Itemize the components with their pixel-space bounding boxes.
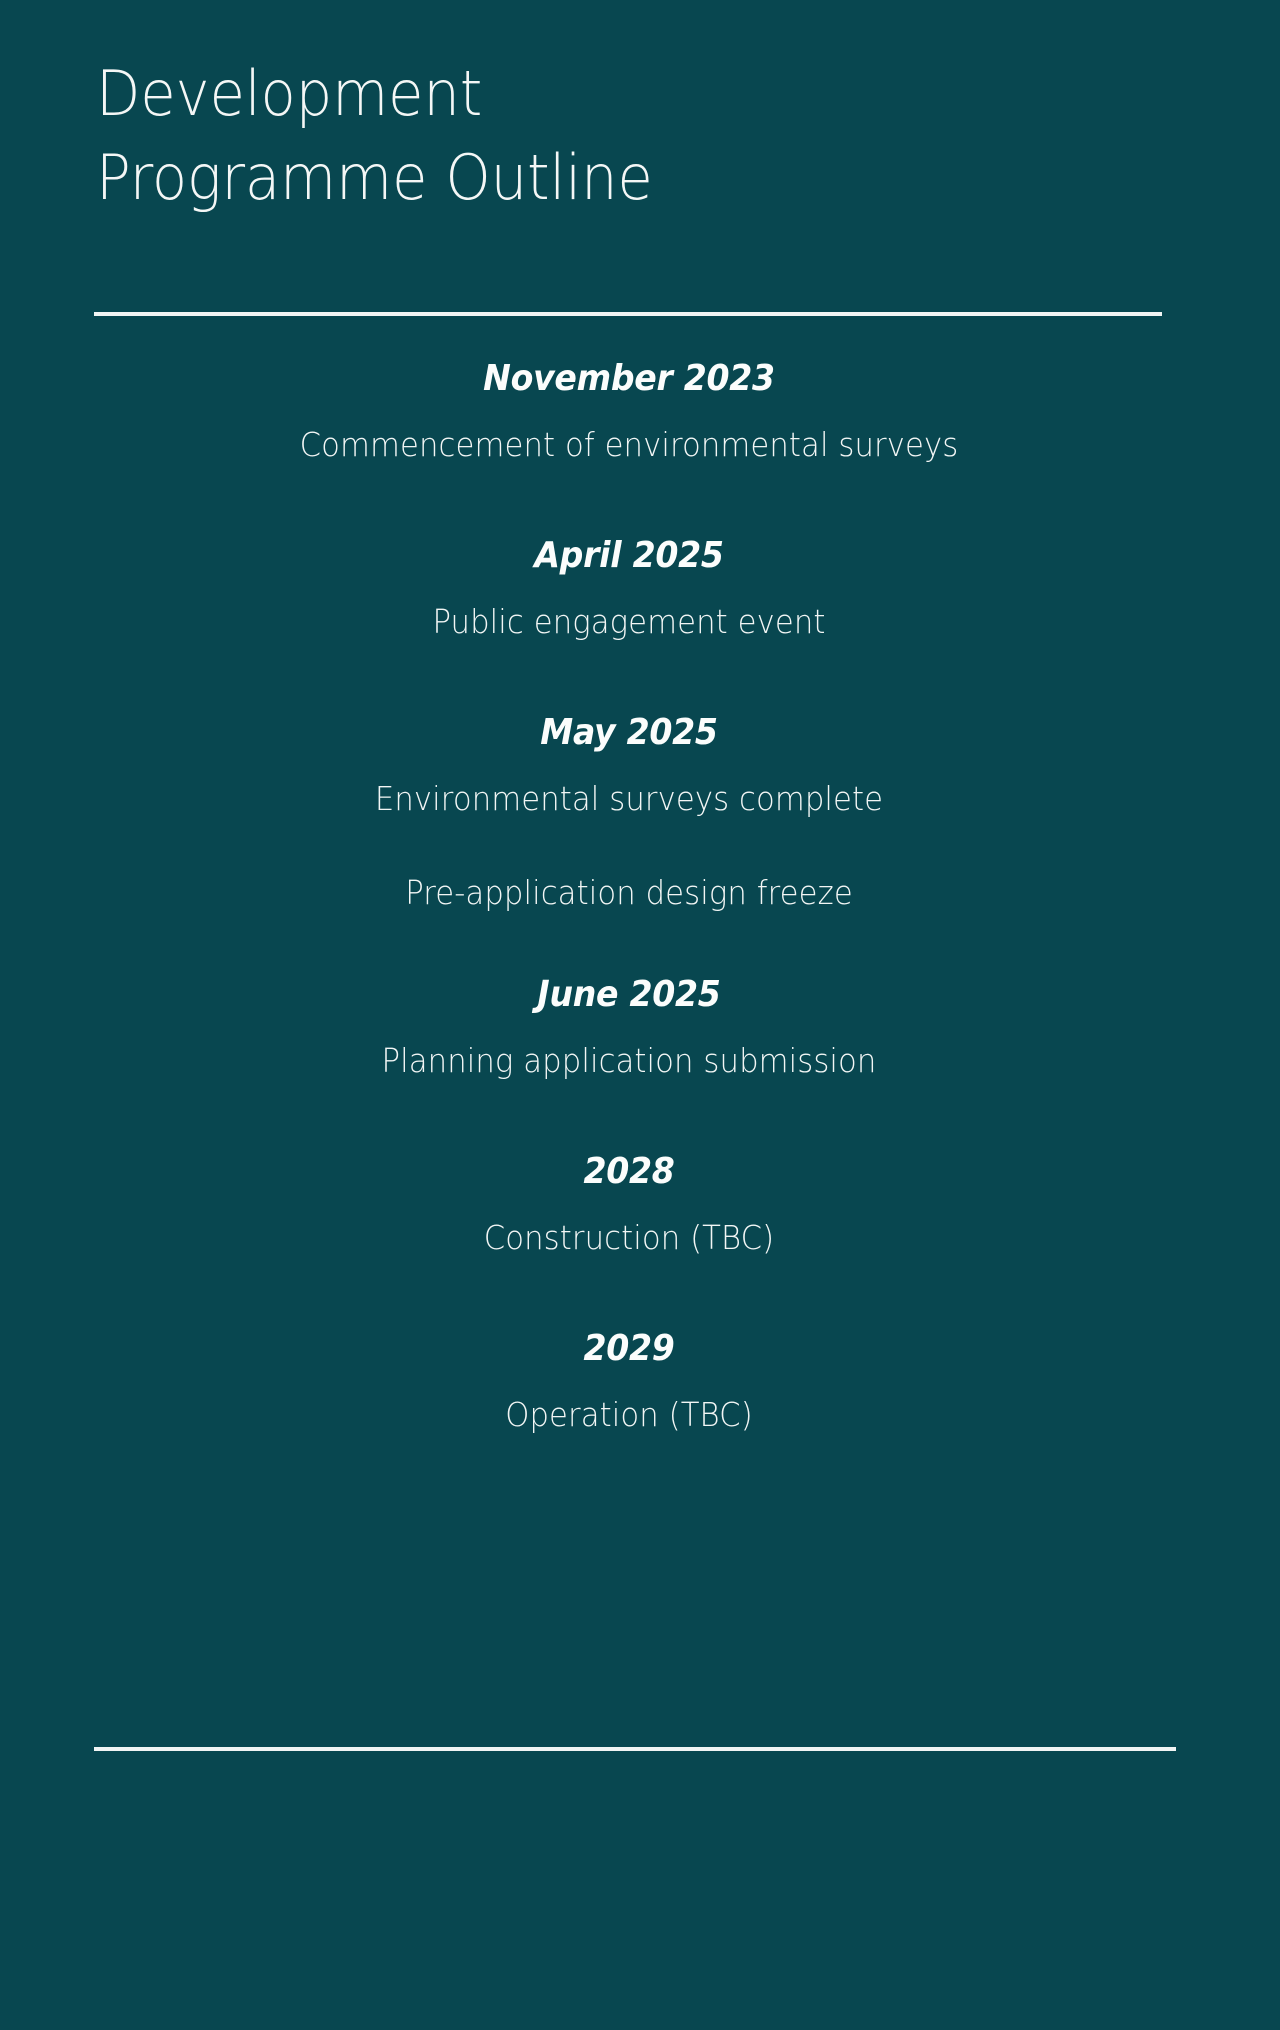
timeline-entry-item: Environmental surveys complete [44,777,1214,821]
timeline-entry-date: June 2025 [50,972,1207,1018]
timeline-entry-date: 2028 [50,1149,1207,1195]
spacer [0,1195,1258,1216]
timeline-entry: 2029 Operation (TBC) [0,1326,1258,1437]
timeline-entry-item: Commencement of environmental surveys [44,423,1214,467]
spacer [0,579,1258,600]
timeline-entry-date: 2029 [50,1326,1207,1372]
spacer [0,756,1258,777]
timeline-entry-date: November 2023 [50,356,1207,402]
timeline-entry-item: Operation (TBC) [44,1393,1214,1437]
timeline-entry: June 2025 Planning application submissio… [0,972,1258,1083]
spacer [0,402,1258,423]
timeline-entry-date: April 2025 [50,533,1207,579]
divider-top [94,312,1162,316]
timeline-entry-item: Public engagement event [44,600,1214,644]
spacer [0,1372,1258,1393]
timeline-entry: November 2023 Commencement of environmen… [0,356,1258,467]
timeline-entry-item: Construction (TBC) [44,1216,1214,1260]
page-title-line-1: Development [96,52,1110,136]
timeline-entry: 2028 Construction (TBC) [0,1149,1258,1260]
divider-bottom [94,1747,1176,1751]
timeline-entry: May 2025 Environmental surveys complete … [0,710,1258,915]
timeline-entry-item: Pre-application design freeze [44,871,1214,915]
page-title: Development Programme Outline [96,52,1186,220]
timeline-entry: April 2025 Public engagement event [0,533,1258,644]
page-title-line-2: Programme Outline [96,136,1110,220]
timeline-entry-date: May 2025 [50,710,1207,756]
timeline-entry-item: Planning application submission [44,1039,1214,1083]
timeline-list: November 2023 Commencement of environmen… [0,356,1258,1437]
slide-development-programme-outline: Development Programme Outline November 2… [0,0,1280,2030]
spacer [0,1018,1258,1039]
spacer [0,821,1258,871]
